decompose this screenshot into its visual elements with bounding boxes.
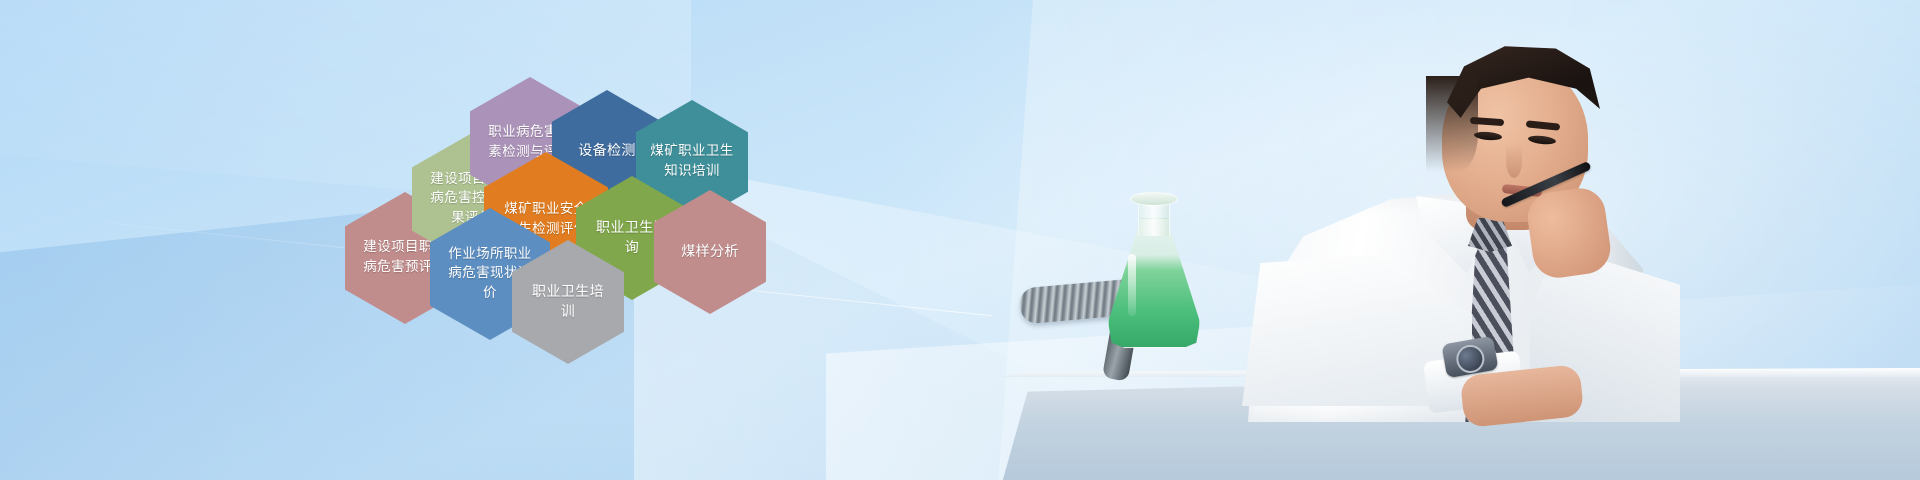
hex-label: 煤矿职业卫生知识培训: [650, 142, 734, 181]
service-hexagon-cluster: 建设项目职业病危害预评价建设项目职业病危害控制效果评价职业病危害因素检测与评价设…: [0, 0, 1920, 480]
banner-stage: 建设项目职业病危害预评价建设项目职业病危害控制效果评价职业病危害因素检测与评价设…: [0, 0, 1920, 480]
hex-label: 煤样分析: [668, 242, 752, 262]
hex-label: 设备检测: [566, 141, 648, 161]
hex-label: 职业卫生培训: [526, 282, 610, 323]
